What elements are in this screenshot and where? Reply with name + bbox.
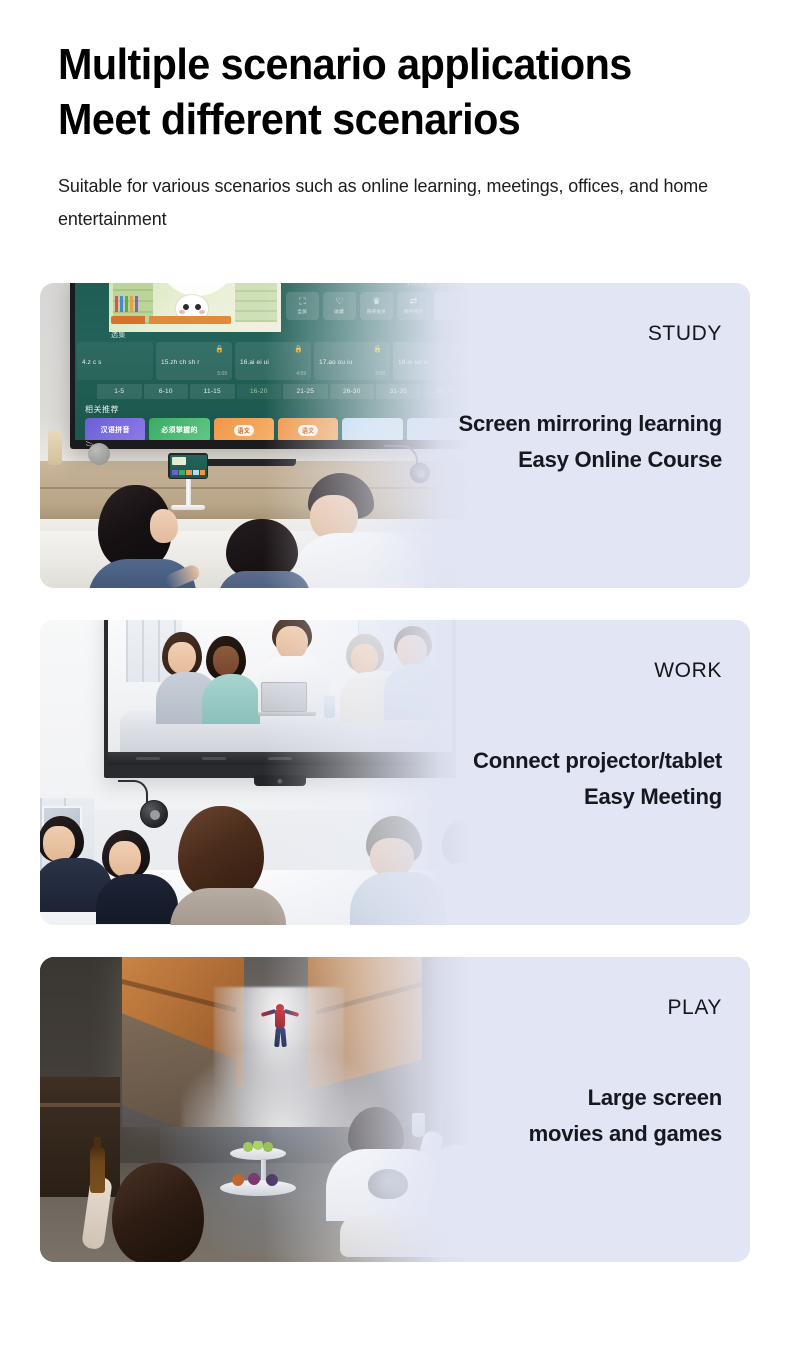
face bbox=[150, 509, 178, 543]
recommendation-tile[interactable]: 语文 bbox=[214, 418, 274, 440]
hair bbox=[112, 1163, 204, 1262]
body bbox=[292, 533, 424, 588]
episode-name: 16.ai ei ui bbox=[240, 359, 269, 366]
card-headline-work: Connect projector/tablet Easy Meeting bbox=[426, 743, 722, 816]
dongle-body-icon bbox=[140, 800, 168, 828]
tv-screen: 学而思培优 正在播放 找上子丿 bbox=[75, 283, 470, 440]
conference-display-screen bbox=[108, 620, 452, 765]
tv-tool-favorite[interactable]: ♡ 收藏 bbox=[323, 292, 356, 320]
snack-plate-top bbox=[230, 1147, 286, 1160]
lock-icon: 🔒 bbox=[373, 345, 382, 353]
meeting-room-background bbox=[40, 620, 470, 925]
call-participant bbox=[202, 636, 260, 722]
tv-tool-fullscreen-label: 全屏 bbox=[298, 308, 308, 314]
episode-duration: 4:59 bbox=[296, 371, 306, 377]
water-glass bbox=[324, 696, 335, 718]
shelf-right bbox=[235, 283, 277, 322]
tv-tool-buy-vip-label: 购买会员 bbox=[367, 308, 386, 314]
face bbox=[213, 646, 239, 676]
person-father bbox=[292, 473, 424, 588]
viewer-woman-front bbox=[104, 1163, 224, 1262]
display-bottom-bar bbox=[108, 752, 452, 765]
page-title: Multiple scenario applications Meet diff… bbox=[58, 38, 716, 147]
face bbox=[351, 644, 378, 675]
bottles-decor bbox=[115, 296, 141, 312]
body bbox=[170, 888, 286, 925]
card-eyebrow-work: WORK bbox=[420, 660, 722, 681]
episode-range-tab-selected[interactable]: 16-20 bbox=[237, 384, 282, 399]
lock-icon: 🔒 bbox=[294, 345, 303, 353]
card-eyebrow-study: STUDY bbox=[420, 323, 722, 344]
scenario-card-study[interactable]: 学而思培优 正在播放 找上子丿 bbox=[40, 283, 750, 588]
panda-cheek-left-icon bbox=[179, 310, 185, 314]
study-scene-photo: 学而思培优 正在播放 找上子丿 bbox=[40, 283, 470, 588]
dongle-cord bbox=[118, 780, 148, 802]
hero-leg-left bbox=[274, 1028, 280, 1047]
hero-arm-right bbox=[284, 1009, 299, 1016]
wireless-dongle bbox=[118, 780, 148, 802]
projected-movie-screen bbox=[122, 957, 422, 1127]
episode-range-tab[interactable]: 11-15 bbox=[190, 384, 235, 399]
ball-decor bbox=[88, 443, 110, 465]
scenario-card-work[interactable]: WORK Connect projector/tablet Easy Meeti… bbox=[40, 620, 750, 925]
speaker-vent bbox=[136, 757, 160, 760]
card-headline-play: Large screen movies and games bbox=[426, 1080, 722, 1153]
loop-icon: ⇄ bbox=[410, 297, 418, 306]
heart-icon: ♡ bbox=[335, 297, 343, 306]
laptop-lid bbox=[261, 682, 307, 712]
episode-range-tab[interactable]: 6-10 bbox=[144, 384, 189, 399]
hero-torso bbox=[275, 1009, 285, 1029]
home-theatre-background bbox=[40, 957, 470, 1262]
tv-tool-favorite-label: 收藏 bbox=[335, 308, 345, 314]
work-scene-photo bbox=[40, 620, 470, 925]
episode-range-tab[interactable]: 1-5 bbox=[97, 384, 142, 399]
laptop-base bbox=[258, 712, 316, 716]
hero-arm-left bbox=[261, 1009, 276, 1016]
episode-name: 4.z c s bbox=[82, 359, 101, 366]
recommendations-title: 相关推荐 bbox=[85, 404, 119, 415]
hook-arm bbox=[384, 445, 418, 465]
hair bbox=[226, 519, 298, 579]
episode-section-label: 选集 bbox=[111, 330, 126, 340]
play-text-panel: PLAY Large screen movies and games bbox=[420, 957, 750, 1262]
face bbox=[168, 642, 196, 674]
recommendation-tile[interactable]: 必须掌握的 bbox=[149, 418, 209, 440]
face bbox=[276, 626, 308, 660]
snack-plate-bottom bbox=[220, 1180, 296, 1196]
card-eyebrow-play: PLAY bbox=[420, 997, 722, 1018]
episode-range-tabs[interactable]: 1-5 6-10 11-15 16-20 21-25 26-30 31-35 3… bbox=[97, 384, 467, 399]
episode-duration: 3:58 bbox=[375, 371, 385, 377]
show-tag-row bbox=[111, 316, 231, 324]
person-child bbox=[218, 519, 310, 588]
recommendation-badge: 语文 bbox=[298, 425, 319, 436]
headphone-hook bbox=[384, 445, 418, 465]
hair bbox=[178, 806, 264, 898]
episode-tile[interactable]: 4.z c s bbox=[77, 342, 153, 380]
laptop bbox=[258, 682, 310, 716]
movie-hero-character bbox=[262, 1003, 298, 1047]
speaker-vent bbox=[202, 757, 226, 760]
page-subtitle: Suitable for various scenarios such as o… bbox=[58, 169, 737, 236]
episode-tile-row[interactable]: 4.z c s 🔒 15.zh ch sh r 5:09 🔒 bbox=[77, 342, 469, 380]
face bbox=[109, 841, 141, 877]
scenario-applications-page: Multiple scenario applications Meet diff… bbox=[0, 0, 790, 1346]
crown-icon: ♛ bbox=[372, 297, 380, 306]
episode-range-tab[interactable]: 21-25 bbox=[283, 384, 328, 399]
episode-tile[interactable]: 🔒 16.ai ei ui 4:59 bbox=[235, 342, 311, 380]
body bbox=[202, 674, 260, 724]
episode-range-tab[interactable]: 31-35 bbox=[376, 384, 421, 399]
card-headline-study: Screen mirroring learning Easy Online Co… bbox=[426, 406, 722, 479]
body bbox=[96, 874, 178, 924]
hero-leg-right bbox=[280, 1028, 286, 1047]
recommendation-tile[interactable] bbox=[342, 418, 402, 440]
episode-tile[interactable]: 🔒 17.ao ou iu 3:58 bbox=[314, 342, 390, 380]
study-text-panel: STUDY Screen mirroring learning Easy Onl… bbox=[420, 283, 750, 588]
episode-duration: 5:09 bbox=[217, 371, 227, 377]
snacks-icon bbox=[230, 1173, 288, 1187]
tshirt-print bbox=[368, 1169, 408, 1199]
tv-stand bbox=[200, 459, 296, 466]
face bbox=[43, 826, 75, 862]
panda-cheek-right-icon bbox=[199, 310, 205, 314]
fullscreen-icon: ⛶ bbox=[299, 297, 305, 306]
episode-name: 17.ao ou iu bbox=[319, 359, 352, 366]
person-mother bbox=[88, 485, 196, 588]
meeting-attendee bbox=[96, 830, 178, 922]
conference-display bbox=[104, 620, 456, 778]
tv-tool-fullscreen[interactable]: ⛶ 全屏 bbox=[286, 292, 319, 320]
speaker-vent bbox=[268, 757, 292, 760]
show-preview-card: 找上子丿 bbox=[109, 283, 281, 332]
tablet-body bbox=[168, 453, 208, 479]
work-text-panel: WORK Connect projector/tablet Easy Meeti… bbox=[420, 620, 750, 925]
page-header: Multiple scenario applications Meet diff… bbox=[58, 38, 758, 236]
show-title: 找上子丿 bbox=[165, 283, 205, 285]
episode-name: 15.zh ch sh r bbox=[161, 359, 200, 366]
recommendation-tile[interactable]: 语文 bbox=[278, 418, 338, 440]
body bbox=[218, 571, 310, 588]
episode-tile[interactable]: 🔒 15.zh ch sh r 5:09 bbox=[156, 342, 232, 380]
recommendation-badge: 语文 bbox=[234, 425, 255, 436]
tablet-screen bbox=[170, 455, 207, 478]
vase-decor bbox=[48, 431, 62, 465]
play-scene-photo bbox=[40, 957, 470, 1262]
drink-bottle bbox=[90, 1147, 105, 1193]
living-room-background: 学而思培优 正在播放 找上子丿 bbox=[40, 283, 470, 588]
display-camera bbox=[254, 775, 306, 786]
lock-icon: 🔒 bbox=[215, 345, 224, 353]
recommendations-row[interactable]: 汉语拼音 必须掌握的 语文 语文 bbox=[85, 418, 467, 440]
wall-mounted-tv: 学而思培优 正在播放 找上子丿 bbox=[70, 283, 470, 449]
scenario-card-play[interactable]: PLAY Large screen movies and games bbox=[40, 957, 750, 1262]
tv-tool-buy-vip[interactable]: ♛ 购买会员 bbox=[360, 292, 393, 320]
snack-stand bbox=[230, 1147, 296, 1196]
episode-range-tab[interactable]: 26-30 bbox=[330, 384, 375, 399]
scenario-card-list: 学而思培优 正在播放 找上子丿 bbox=[40, 283, 750, 1262]
meeting-attendee bbox=[170, 806, 286, 925]
grapes-icon bbox=[242, 1141, 274, 1153]
